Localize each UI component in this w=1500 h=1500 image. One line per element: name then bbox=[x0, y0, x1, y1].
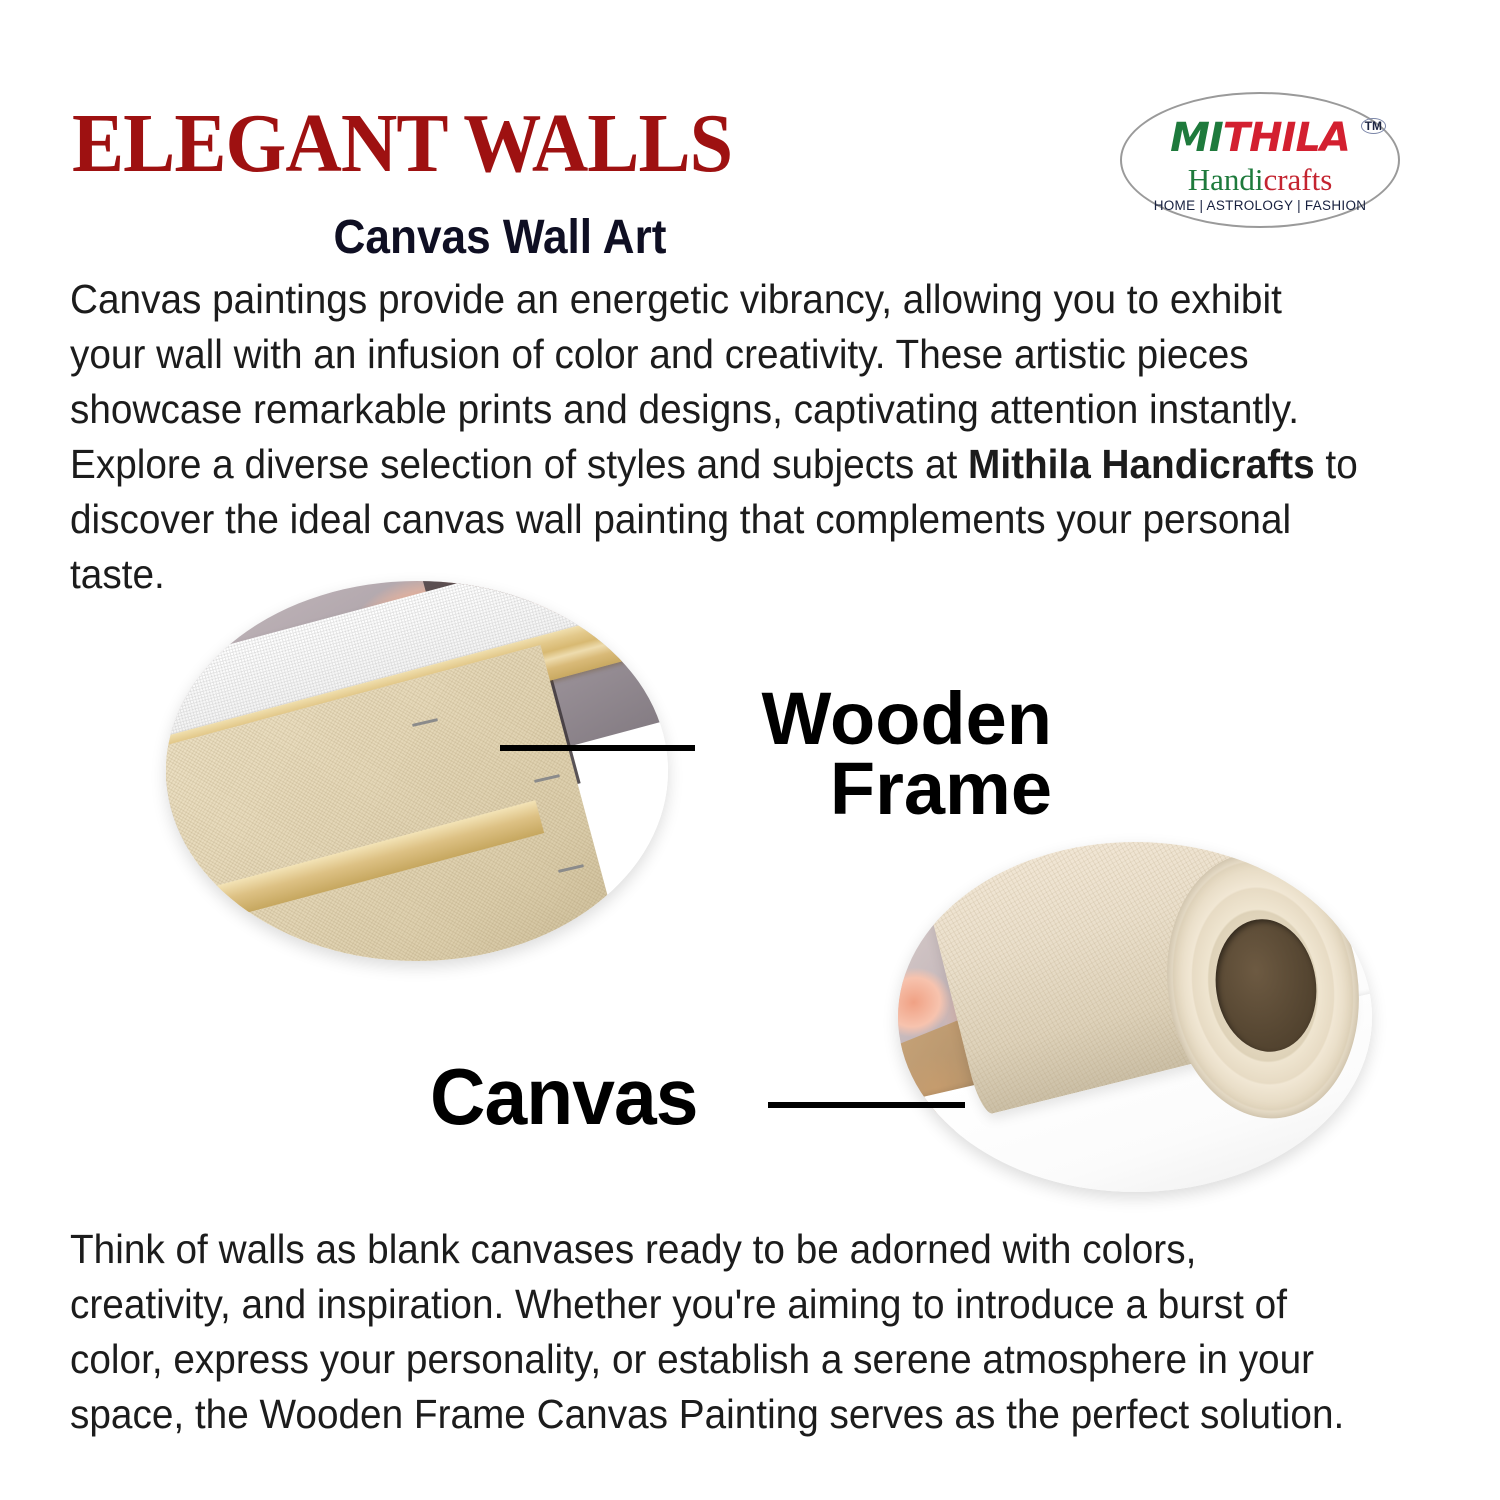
closing-paragraph: Think of walls as blank canvases ready t… bbox=[70, 1222, 1363, 1442]
brand-name-emphasis: Mithila Handicrafts bbox=[968, 441, 1315, 487]
logo-wordmark: MITHILA bbox=[1120, 118, 1400, 158]
logo-subtitle-part1: Handi bbox=[1188, 162, 1264, 197]
rolled-canvas-photo bbox=[898, 842, 1372, 1192]
logo-wordmark-part2: THILA bbox=[1223, 115, 1350, 161]
page-title: ELEGANT WALLS bbox=[72, 102, 732, 186]
wooden-frame-callout-label: Wooden Frame bbox=[700, 684, 1052, 825]
trademark-icon: TM bbox=[1361, 118, 1386, 134]
logo-wordmark-part1: MI bbox=[1170, 115, 1223, 161]
intro-paragraph: Canvas paintings provide an energetic vi… bbox=[70, 272, 1363, 602]
product-infographic-page: ELEGANT WALLS MITHILA TM Handicrafts HOM… bbox=[0, 0, 1500, 1500]
canvas-leader-line bbox=[768, 1102, 965, 1108]
logo-subtitle-part2: crafts bbox=[1263, 162, 1332, 197]
logo-tagline: HOME | ASTROLOGY | FASHION bbox=[1120, 198, 1400, 213]
section-heading: Canvas Wall Art bbox=[40, 214, 960, 262]
brand-logo: MITHILA TM Handicrafts HOME | ASTROLOGY … bbox=[1120, 92, 1400, 228]
wooden-frame-leader-line bbox=[500, 745, 695, 751]
wooden-frame-back-of-canvas-photo bbox=[166, 581, 668, 961]
logo-subtitle: Handicrafts bbox=[1120, 164, 1400, 195]
canvas-callout-label: Canvas bbox=[430, 1059, 697, 1135]
